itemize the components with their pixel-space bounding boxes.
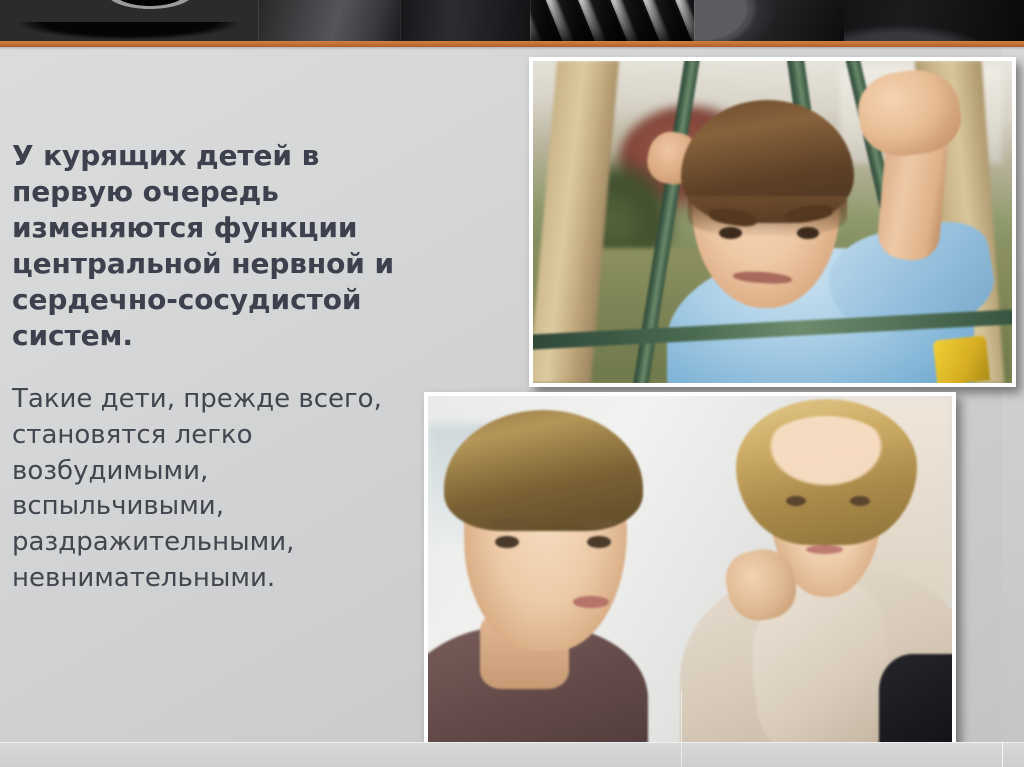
paragraph-primary: У курящих детей в первую очередь изменяю… xyxy=(12,138,412,354)
paragraph-secondary: Такие дети, прежде всего, становятся лег… xyxy=(12,382,412,597)
dark-fade-segment xyxy=(844,0,1024,41)
teen-boy-eyebrow-left xyxy=(492,518,528,528)
slide-canvas: У курящих детей в первую очередь изменяю… xyxy=(0,0,1024,767)
foreground-dark-object xyxy=(879,654,952,745)
boy-head xyxy=(681,100,853,313)
slide-footer-band xyxy=(0,742,1024,767)
teen-boy-head xyxy=(444,410,643,661)
header-banner-image xyxy=(0,0,1024,41)
photo-angry-boy-on-playground xyxy=(529,57,1016,387)
alloy-wheel-spokes-icon xyxy=(0,0,258,41)
accent-rule-shadow xyxy=(0,47,1024,50)
banner-seam xyxy=(400,0,401,41)
teen-boy-hair xyxy=(444,410,643,531)
boy-eye-left xyxy=(719,227,741,239)
boy-eye-right xyxy=(797,227,819,239)
content-text-column: У курящих детей в первую очередь изменяю… xyxy=(12,138,412,597)
playground-yellow-element xyxy=(933,335,990,383)
boy-hair xyxy=(681,100,853,223)
mother-blonde-hair xyxy=(736,399,917,545)
diagonal-highlights-segment xyxy=(530,0,694,41)
background-seam xyxy=(681,690,682,767)
banner-seam xyxy=(258,0,259,41)
photo-teen-boy-with-mother xyxy=(424,392,956,749)
banner-seam xyxy=(694,0,695,41)
mother-eye-right xyxy=(850,496,870,506)
tyre-arcs-segment xyxy=(400,0,530,41)
blurred-metal-segment xyxy=(258,0,400,41)
teen-boy-eyebrow-right xyxy=(577,518,617,528)
footer-divider xyxy=(1002,742,1003,767)
banner-seam xyxy=(530,0,531,41)
mother-mouth xyxy=(806,545,843,554)
tyre-sidewall-segment xyxy=(694,0,844,41)
teen-boy-eye-right xyxy=(587,536,611,549)
